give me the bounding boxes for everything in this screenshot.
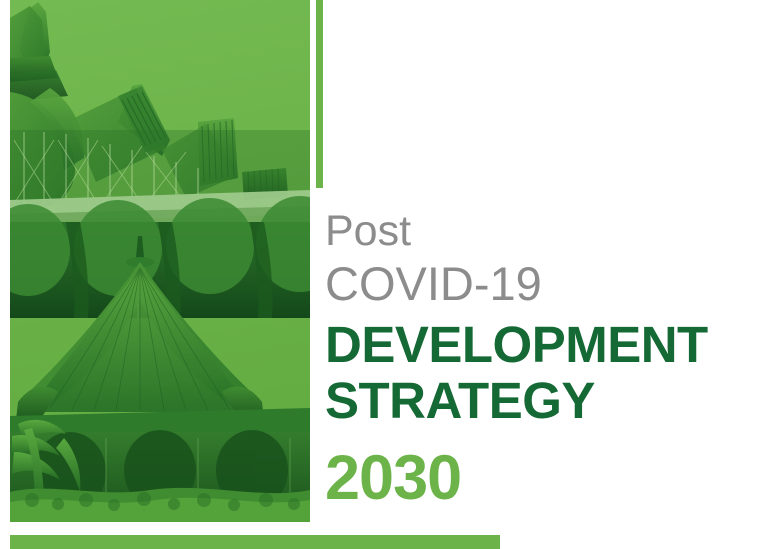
building-illustration (10, 0, 310, 522)
cover-kicker-line-1: Post (325, 206, 745, 256)
hero-photo (10, 0, 310, 522)
cover-year: 2030 (325, 443, 745, 513)
cover-kicker-line-2: COVID-19 (325, 256, 745, 311)
bottom-accent-bar (10, 535, 500, 549)
cover-headline-line-1: DEVELOPMENT (325, 317, 745, 373)
vertical-accent-rule (316, 0, 323, 188)
cover-headline-line-2: STRATEGY (325, 373, 745, 429)
report-cover: Post COVID-19 DEVELOPMENT STRATEGY 2030 (0, 0, 761, 549)
cover-title-block: Post COVID-19 DEVELOPMENT STRATEGY 2030 (325, 206, 745, 513)
